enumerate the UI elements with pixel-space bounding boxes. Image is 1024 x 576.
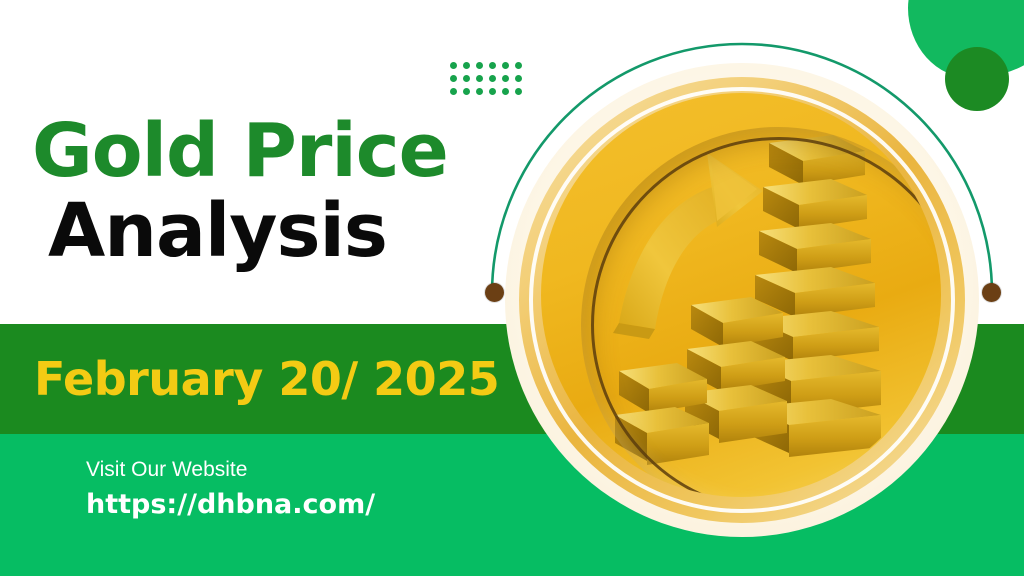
arc-endpoint-dot-left [485, 283, 504, 302]
grid-dot [489, 75, 496, 82]
arc-endpoint-dot-right [982, 283, 1001, 302]
website-url[interactable]: https://dhbna.com/ [86, 488, 375, 522]
grid-dot [450, 62, 457, 69]
page-title-line1: Gold Price [32, 112, 502, 190]
website-label: Visit Our Website [86, 456, 375, 484]
headline-block: Gold Price Analysis [32, 112, 502, 270]
grid-dot [476, 75, 483, 82]
gold-coin-illustration [505, 63, 979, 537]
grid-dot [450, 75, 457, 82]
page-title-line2: Analysis [48, 192, 502, 270]
grid-dot [463, 75, 470, 82]
grid-dot [476, 62, 483, 69]
website-block: Visit Our Website https://dhbna.com/ [86, 456, 375, 522]
grid-dot [489, 88, 496, 95]
coin-face [541, 93, 941, 497]
grid-dot [463, 62, 470, 69]
grid-dot [489, 62, 496, 69]
gold-price-banner: Gold Price Analysis February 20/ 2025 Vi… [0, 0, 1024, 576]
grid-dot [476, 88, 483, 95]
date-text: February 20/ 2025 [34, 352, 499, 406]
grid-dot [463, 88, 470, 95]
grid-dot [450, 88, 457, 95]
